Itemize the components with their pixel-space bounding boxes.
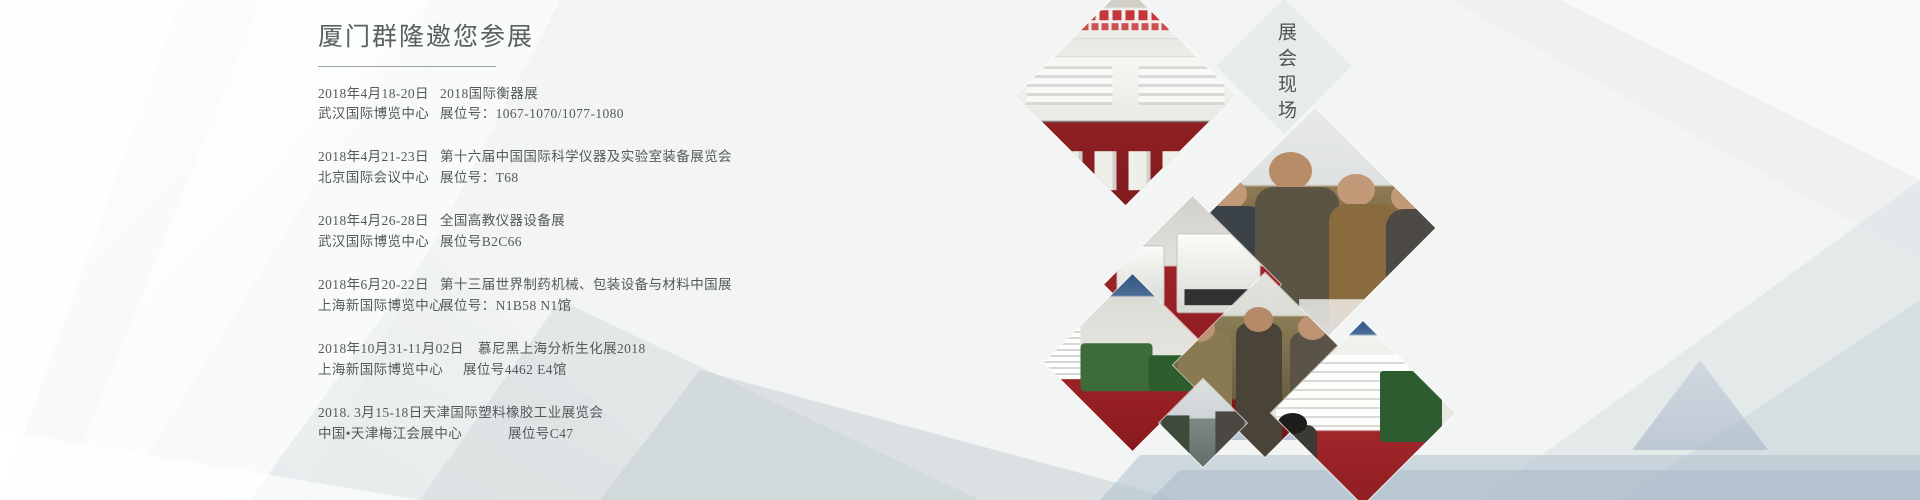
collage-label: 展会现场 (1272, 22, 1299, 126)
exhibition-row-secondary: 武汉国际博览中心 展位号B2C66 (318, 232, 1038, 253)
exhibition-date: 2018年4月26-28日 (318, 211, 440, 232)
title-divider (318, 66, 496, 67)
exhibition-row-primary: 2018年4月21-23日 第十六届中国国际科学仪器及实验室装备展览会 (318, 147, 1038, 168)
photo-collage: 展会现场 (1030, 0, 1450, 500)
exhibition-title: 第十三届世界制药机械、包装设备与材料中国展 (440, 275, 732, 296)
exhibition-title: 2018国际衡器展 (440, 84, 538, 105)
exhibition-venue: 武汉国际博览中心 (318, 104, 440, 125)
exhibition-date: 2018年4月18-20日 (318, 84, 440, 105)
exhibition-row-secondary: 北京国际会议中心 展位号：T68 (318, 168, 1038, 189)
exhibition-venue: 上海新国际博览中心 (318, 360, 463, 381)
exhibition-row-primary: 2018年4月18-20日 2018国际衡器展 (318, 84, 1038, 105)
exhibition-entry-6[interactable]: 2018. 3月15-18日天津国际塑料橡胶工业展览会 中国•天津梅江会展中心 … (318, 403, 1038, 445)
exhibition-booth: 展位号：1067-1070/1077-1080 (440, 104, 624, 125)
exhibition-venue: 中国•天津梅江会展中心 (318, 424, 508, 445)
exhibition-date: 2018. 3月15-18日天津国际塑料橡胶工业展览会 (318, 403, 603, 424)
exhibition-entry-5[interactable]: 2018年10月31-11月02日 慕尼黑上海分析生化展2018 上海新国际博览… (318, 339, 1038, 381)
exhibition-venue: 武汉国际博览中心 (318, 232, 440, 253)
exhibition-booth: 展位号4462 E4馆 (463, 360, 567, 381)
exhibition-booth: 展位号：T68 (440, 168, 519, 189)
page-title: 厦门群隆邀您参展 (318, 22, 1038, 55)
exhibition-entry-4[interactable]: 2018年6月20-22日 第十三届世界制药机械、包装设备与材料中国展 上海新国… (318, 275, 1038, 317)
exhibition-row-primary: 2018. 3月15-18日天津国际塑料橡胶工业展览会 (318, 403, 1038, 424)
exhibition-text-column: 厦门群隆邀您参展 2018年4月18-20日 2018国际衡器展 武汉国际博览中… (318, 22, 1038, 467)
exhibition-venue: 上海新国际博览中心 (318, 296, 440, 317)
exhibition-entry-1[interactable]: 2018年4月18-20日 2018国际衡器展 武汉国际博览中心 展位号：106… (318, 84, 1038, 126)
exhibition-row-primary: 2018年10月31-11月02日 慕尼黑上海分析生化展2018 (318, 339, 1038, 360)
exhibition-date: 2018年10月31-11月02日 (318, 339, 478, 360)
exhibition-row-secondary: 上海新国际博览中心 展位号：N1B58 N1馆 (318, 296, 1038, 317)
exhibition-title: 全国高教仪器设备展 (440, 211, 565, 232)
exhibition-booth: 展位号C47 (508, 424, 573, 445)
exhibition-entry-2[interactable]: 2018年4月21-23日 第十六届中国国际科学仪器及实验室装备展览会 北京国际… (318, 147, 1038, 189)
exhibition-title: 慕尼黑上海分析生化展2018 (478, 339, 646, 360)
collage-photo-1[interactable] (1016, 0, 1235, 205)
exhibition-row-secondary: 上海新国际博览中心 展位号4462 E4馆 (318, 360, 1038, 381)
exhibition-venue: 北京国际会议中心 (318, 168, 440, 189)
exhibition-date: 2018年4月21-23日 (318, 147, 440, 168)
exhibition-row-secondary: 中国•天津梅江会展中心 展位号C47 (318, 424, 1038, 445)
banner-content: 厦门群隆邀您参展 2018年4月18-20日 2018国际衡器展 武汉国际博览中… (0, 0, 1920, 500)
exhibition-date: 2018年6月20-22日 (318, 275, 440, 296)
exhibition-booth: 展位号B2C66 (440, 232, 522, 253)
exhibition-row-primary: 2018年6月20-22日 第十三届世界制药机械、包装设备与材料中国展 (318, 275, 1038, 296)
exhibition-row-primary: 2018年4月26-28日 全国高教仪器设备展 (318, 211, 1038, 232)
exhibition-booth: 展位号：N1B58 N1馆 (440, 296, 572, 317)
exhibition-entry-3[interactable]: 2018年4月26-28日 全国高教仪器设备展 武汉国际博览中心 展位号B2C6… (318, 211, 1038, 253)
photo-exhibition-booth (1016, 0, 1235, 205)
exhibition-row-secondary: 武汉国际博览中心 展位号：1067-1070/1077-1080 (318, 104, 1038, 125)
exhibition-title: 第十六届中国国际科学仪器及实验室装备展览会 (440, 147, 732, 168)
